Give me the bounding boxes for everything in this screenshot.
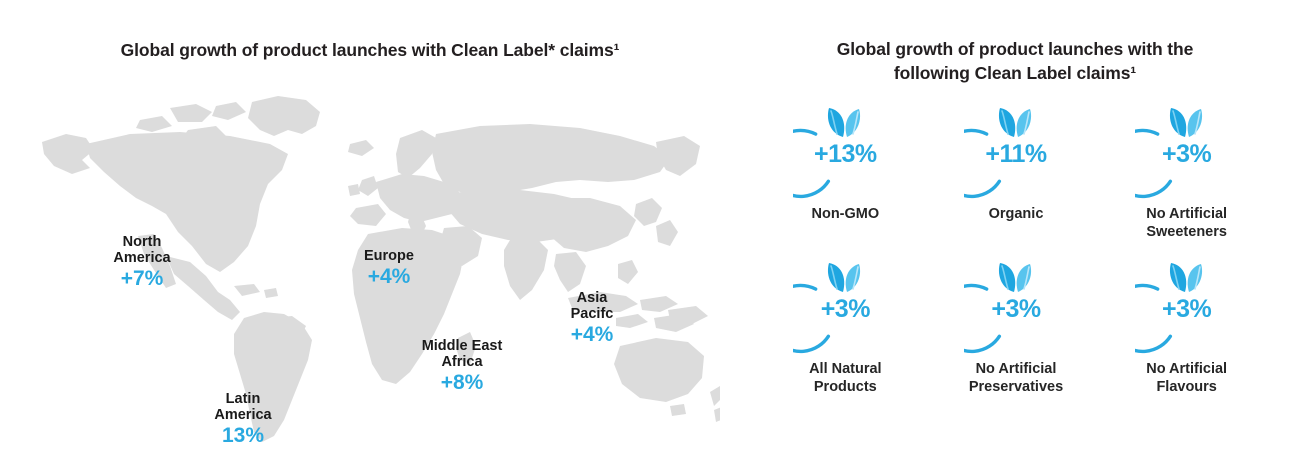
region-name: North America: [82, 234, 202, 266]
claim-item: +11% Organic: [933, 96, 1100, 251]
claims-panel-title: Global growth of product launches with t…: [760, 38, 1270, 85]
leaf-circle-icon: +3%: [1135, 251, 1239, 355]
claim-label: No Artificial Sweeteners: [1146, 206, 1227, 241]
region-value: +4%: [547, 323, 637, 347]
leaf-circle-icon: +11%: [964, 96, 1068, 200]
region-value: +7%: [82, 267, 202, 291]
claim-value: +3%: [1135, 251, 1239, 355]
claim-label: No Artificial Preservatives: [969, 361, 1063, 396]
map-panel-title: Global growth of product launches with C…: [0, 40, 740, 61]
leaf-circle-icon: +3%: [793, 251, 897, 355]
region-name: Asia Pacifc: [547, 290, 637, 322]
world-map-container: North America +7% Latin America 13% Euro…: [20, 86, 720, 456]
claim-label: No Artificial Flavours: [1146, 361, 1227, 396]
claim-value: +13%: [793, 96, 897, 200]
region-value: +4%: [344, 265, 434, 289]
claim-item: +3% No Artificial Sweeteners: [1103, 96, 1270, 251]
claim-value: +3%: [793, 251, 897, 355]
claim-value: +3%: [1135, 96, 1239, 200]
map-label-asia-pacific: Asia Pacifc +4%: [547, 290, 637, 347]
leaf-circle-icon: +13%: [793, 96, 897, 200]
map-label-north-america: North America +7%: [82, 234, 202, 291]
claim-item: +3% No Artificial Preservatives: [933, 251, 1100, 406]
claims-panel: Global growth of product launches with t…: [740, 0, 1289, 470]
claim-value: +11%: [964, 96, 1068, 200]
claim-label: All Natural Products: [809, 361, 882, 396]
region-name: Europe: [344, 248, 434, 264]
region-value: 13%: [183, 424, 303, 448]
map-label-europe: Europe +4%: [344, 248, 434, 289]
claim-label: Non-GMO: [812, 206, 880, 224]
claim-item: +3% All Natural Products: [762, 251, 929, 406]
region-name: Middle East Africa: [392, 338, 532, 370]
claim-value: +3%: [964, 251, 1068, 355]
claim-label: Organic: [989, 206, 1044, 224]
map-label-latin-america: Latin America 13%: [183, 391, 303, 448]
region-value: +8%: [392, 371, 532, 395]
leaf-circle-icon: +3%: [964, 251, 1068, 355]
leaf-circle-icon: +3%: [1135, 96, 1239, 200]
claim-item: +3% No Artificial Flavours: [1103, 251, 1270, 406]
claims-grid: +13% Non-GMO +11%: [762, 96, 1270, 406]
map-label-middle-east-africa: Middle East Africa +8%: [392, 338, 532, 395]
region-name: Latin America: [183, 391, 303, 423]
claim-item: +13% Non-GMO: [762, 96, 929, 251]
map-panel: Global growth of product launches with C…: [0, 0, 740, 470]
